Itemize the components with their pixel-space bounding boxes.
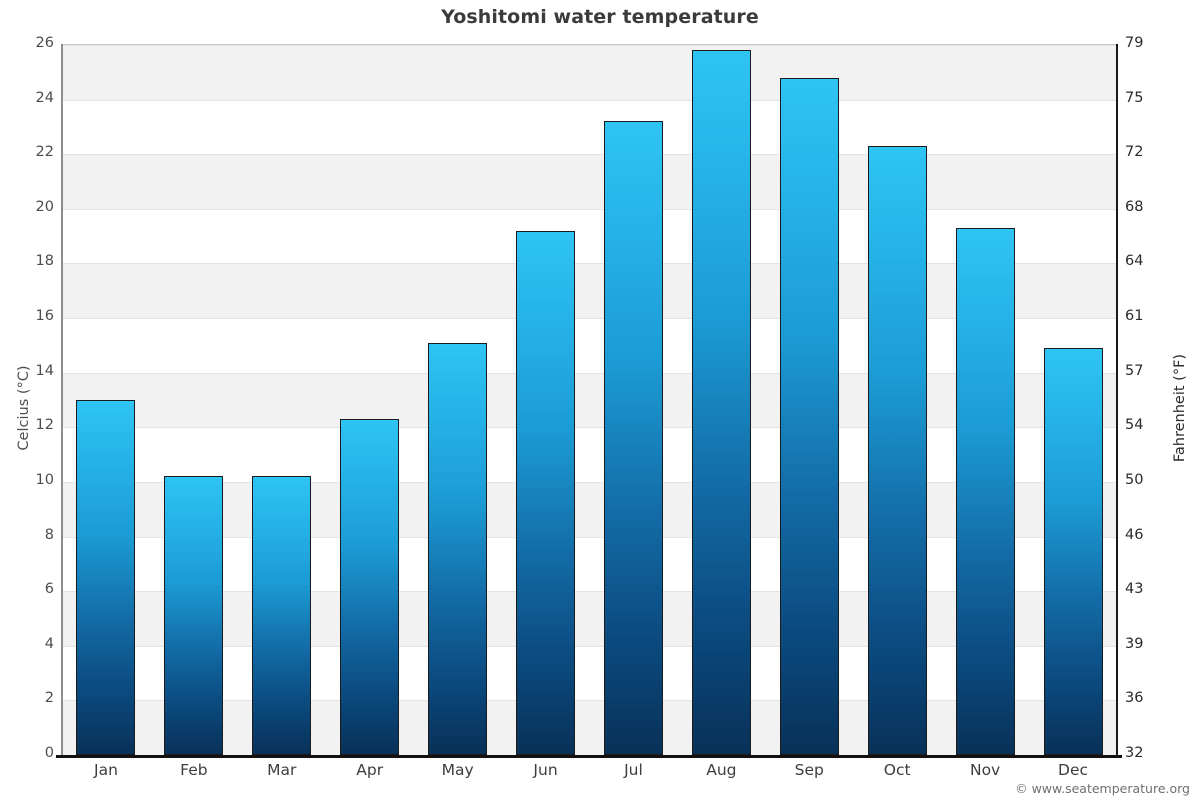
x-tick-nov: Nov [935,761,1035,779]
y-tick-right-72: 72 [1125,144,1165,160]
y-axis-left-label: Celcius (°C) [16,338,32,478]
bar-nov[interactable] [956,228,1015,755]
axis-bottom-spine [56,755,1122,758]
bar-feb[interactable] [164,476,223,755]
plot-area [62,45,1117,755]
y-tick-right-46: 46 [1125,527,1165,543]
y-axis-right-label: Fahrenheit (°F) [1172,328,1188,488]
gridline [62,45,1117,46]
y-tick-right-75: 75 [1125,90,1165,106]
y-tick-right-39: 39 [1125,636,1165,652]
y-tick-right-57: 57 [1125,363,1165,379]
y-tick-left-4: 4 [14,636,54,652]
x-tick-apr: Apr [320,761,420,779]
y-tick-right-43: 43 [1125,581,1165,597]
y-tick-left-16: 16 [14,308,54,324]
y-tick-left-18: 18 [14,253,54,269]
y-tick-right-54: 54 [1125,417,1165,433]
bar-jul[interactable] [604,121,663,755]
x-tick-sep: Sep [759,761,859,779]
x-tick-jun: Jun [496,761,596,779]
y-tick-right-79: 79 [1125,35,1165,51]
bar-jun[interactable] [516,231,575,755]
x-tick-mar: Mar [232,761,332,779]
y-tick-left-2: 2 [14,690,54,706]
bar-jan[interactable] [76,400,135,755]
x-tick-jan: Jan [56,761,156,779]
x-tick-aug: Aug [671,761,771,779]
copyright-credit: © www.seatemperature.org [1015,781,1190,796]
x-tick-may: May [408,761,508,779]
bar-oct[interactable] [868,146,927,755]
y-tick-left-20: 20 [14,199,54,215]
axis-left-spine [61,44,63,757]
band-row [62,154,1117,209]
y-tick-right-32: 32 [1125,745,1165,761]
x-tick-jul: Jul [583,761,683,779]
bar-dec[interactable] [1044,348,1103,755]
y-tick-left-24: 24 [14,90,54,106]
x-tick-oct: Oct [847,761,947,779]
gridline [62,209,1117,210]
y-tick-right-68: 68 [1125,199,1165,215]
x-tick-feb: Feb [144,761,244,779]
x-tick-dec: Dec [1023,761,1123,779]
y-tick-left-8: 8 [14,527,54,543]
gridline [62,100,1117,101]
y-tick-right-50: 50 [1125,472,1165,488]
y-tick-left-22: 22 [14,144,54,160]
water-temperature-chart: Yoshitomi water temperature 024681012141… [0,0,1200,800]
y-tick-left-0: 0 [14,745,54,761]
band-row [62,45,1117,100]
axis-top-spine [62,44,1117,45]
axis-right-spine [1116,44,1118,757]
y-tick-right-36: 36 [1125,690,1165,706]
bar-may[interactable] [428,343,487,755]
y-tick-left-26: 26 [14,35,54,51]
bar-apr[interactable] [340,419,399,755]
gridline [62,154,1117,155]
y-tick-left-6: 6 [14,581,54,597]
bar-sep[interactable] [780,78,839,755]
y-tick-right-64: 64 [1125,253,1165,269]
chart-title: Yoshitomi water temperature [0,6,1200,28]
bar-aug[interactable] [692,50,751,755]
y-tick-right-61: 61 [1125,308,1165,324]
bar-mar[interactable] [252,476,311,755]
